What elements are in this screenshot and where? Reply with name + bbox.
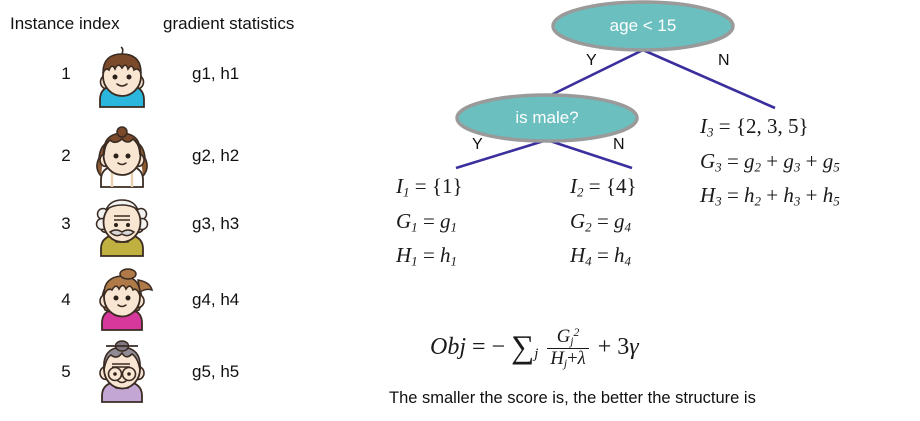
leaf-2-G-equals: = bbox=[597, 209, 609, 233]
leaf-2-hessian-sum: H4 = h4 bbox=[570, 241, 637, 276]
summation-icon: ∑ bbox=[511, 330, 534, 366]
table-row-stats-3: g3, h3 bbox=[192, 214, 239, 234]
denominator-symbol: H bbox=[550, 348, 564, 369]
leaf-3-G-subscript: 3 bbox=[715, 159, 722, 174]
leaf-1-H-equals: = bbox=[423, 243, 435, 267]
gamma-coefficient: 3 bbox=[617, 334, 629, 360]
leaf-3-G-term-3-subscript: 5 bbox=[833, 159, 840, 174]
leaf-3-hessian-sum: H3 = h2 + h3 + h5 bbox=[700, 181, 840, 216]
leaf-3-G-plus-2: + bbox=[806, 149, 818, 173]
leaf-2-gradient-sum: G2 = g4 bbox=[570, 207, 637, 242]
objective-name: Obj bbox=[430, 334, 466, 360]
leaf-1-G-symbol: G bbox=[396, 209, 411, 233]
objective-plus: + bbox=[598, 334, 612, 360]
leaf-1-hessian-sum: H1 = h1 bbox=[396, 241, 463, 276]
leaf-2-I-equals: = bbox=[589, 174, 601, 198]
edge-label-child-no: N bbox=[613, 136, 625, 154]
leaf-1-H-rhs-subscript: 1 bbox=[451, 254, 458, 269]
objective-denominator: Hj+λ bbox=[547, 348, 588, 370]
leaf-3-I-value: {2, 3, 5} bbox=[736, 114, 809, 138]
leaf-1-G-rhs-symbol: g bbox=[440, 209, 451, 233]
edge-label-root-no: N bbox=[718, 52, 730, 70]
leaf-2-I-symbol: I bbox=[570, 174, 577, 198]
leaf-1-I-value: {1} bbox=[432, 174, 463, 198]
leaf-1-H-subscript: 1 bbox=[411, 254, 418, 269]
leaf-1-G-equals: = bbox=[423, 209, 435, 233]
grandmother-avatar bbox=[88, 338, 156, 406]
leaf-2-H-equals: = bbox=[597, 243, 609, 267]
objective-numerator: Gj2 bbox=[547, 326, 588, 348]
boy-avatar bbox=[88, 45, 156, 113]
edge-child-yes bbox=[456, 140, 547, 168]
numerator-symbol: G bbox=[557, 326, 571, 347]
leaf-3-H-subscript: 3 bbox=[715, 194, 722, 209]
tree-node-root-label: age < 15 bbox=[553, 16, 733, 36]
leaf-2-G-subscript: 2 bbox=[585, 219, 592, 234]
edge-root-no bbox=[643, 50, 775, 108]
table-row-index-3: 3 bbox=[52, 214, 80, 234]
numerator-superscript: 2 bbox=[574, 326, 580, 339]
leaf-1-H-symbol: H bbox=[396, 243, 411, 267]
leaf-3-I-equals: = bbox=[719, 114, 731, 138]
leaf-2-statistics: I2 = {4} G2 = g4 H4 = h4 bbox=[570, 172, 637, 276]
xgboost-tree-structure-figure: Instance index gradient statistics 1 g1,… bbox=[0, 0, 920, 421]
denominator-plus: + bbox=[567, 348, 578, 369]
column-header-instance-index: Instance index bbox=[10, 14, 120, 34]
leaf-2-G-rhs-subscript: 4 bbox=[625, 219, 632, 234]
edge-label-root-yes: Y bbox=[586, 52, 597, 70]
leaf-3-instances: I3 = {2, 3, 5} bbox=[700, 112, 840, 147]
table-row-index-5: 5 bbox=[52, 362, 80, 382]
objective-minus-sign: − bbox=[492, 334, 506, 360]
summation-index: j bbox=[534, 346, 538, 362]
leaf-1-I-subscript: 1 bbox=[403, 185, 410, 200]
leaf-3-gradient-sum: G3 = g2 + g3 + g5 bbox=[700, 147, 840, 182]
leaf-3-I-subscript: 3 bbox=[707, 125, 714, 140]
leaf-2-G-rhs-symbol: g bbox=[614, 209, 625, 233]
column-header-gradient-statistics: gradient statistics bbox=[163, 14, 294, 34]
leaf-3-H-plus-2: + bbox=[806, 183, 818, 207]
leaf-2-H-symbol: H bbox=[570, 243, 585, 267]
leaf-3-G-equals: = bbox=[727, 149, 739, 173]
table-row-index-1: 1 bbox=[52, 64, 80, 84]
objective-fraction: Gj2 Hj+λ bbox=[547, 326, 588, 370]
objective-equals: = bbox=[472, 334, 486, 360]
leaf-3-H-term-2-subscript: 3 bbox=[794, 194, 801, 209]
leaf-3-G-term-3-symbol: g bbox=[823, 149, 834, 173]
table-row-stats-4: g4, h4 bbox=[192, 290, 239, 310]
leaf-2-H-subscript: 4 bbox=[585, 254, 592, 269]
leaf-3-G-term-2-symbol: g bbox=[783, 149, 794, 173]
leaf-3-I-symbol: I bbox=[700, 114, 707, 138]
figure-caption: The smaller the score is, the better the… bbox=[389, 389, 756, 408]
leaf-1-statistics: I1 = {1} G1 = g1 H1 = h1 bbox=[396, 172, 463, 276]
grandfather-avatar bbox=[88, 192, 156, 260]
leaf-2-G-symbol: G bbox=[570, 209, 585, 233]
lambda-symbol: λ bbox=[578, 348, 586, 369]
leaf-2-instances: I2 = {4} bbox=[570, 172, 637, 207]
leaf-2-H-rhs-symbol: h bbox=[614, 243, 625, 267]
table-row-stats-5: g5, h5 bbox=[192, 362, 239, 382]
tree-node-is-male-label: is male? bbox=[457, 108, 637, 128]
leaf-2-I-subscript: 2 bbox=[577, 185, 584, 200]
leaf-3-H-term-3-symbol: h bbox=[823, 183, 834, 207]
leaf-2-I-value: {4} bbox=[606, 174, 637, 198]
woman-avatar bbox=[88, 266, 156, 334]
leaf-1-I-symbol: I bbox=[396, 174, 403, 198]
leaf-1-instances: I1 = {1} bbox=[396, 172, 463, 207]
edge-label-child-yes: Y bbox=[472, 136, 483, 154]
table-row-stats-1: g1, h1 bbox=[192, 64, 239, 84]
leaf-1-gradient-sum: G1 = g1 bbox=[396, 207, 463, 242]
table-row-stats-2: g2, h2 bbox=[192, 146, 239, 166]
table-row-index-2: 2 bbox=[52, 146, 80, 166]
leaf-3-H-term-1-symbol: h bbox=[744, 183, 755, 207]
leaf-1-H-rhs-symbol: h bbox=[440, 243, 451, 267]
leaf-3-H-term-1-subscript: 2 bbox=[755, 194, 762, 209]
leaf-1-I-equals: = bbox=[415, 174, 427, 198]
leaf-1-G-rhs-subscript: 1 bbox=[451, 219, 458, 234]
girl-avatar bbox=[88, 124, 156, 192]
leaf-2-H-rhs-subscript: 4 bbox=[625, 254, 632, 269]
leaf-3-H-plus-1: + bbox=[766, 183, 778, 207]
objective-function-formula: Obj = − ∑j Gj2 Hj+λ + 3γ bbox=[430, 326, 639, 370]
leaf-3-G-term-2-subscript: 3 bbox=[794, 159, 801, 174]
leaf-1-G-subscript: 1 bbox=[411, 219, 418, 234]
table-row-index-4: 4 bbox=[52, 290, 80, 310]
gamma-symbol: γ bbox=[629, 334, 638, 360]
leaf-3-statistics: I3 = {2, 3, 5} G3 = g2 + g3 + g5 H3 = h2… bbox=[700, 112, 840, 216]
leaf-3-G-symbol: G bbox=[700, 149, 715, 173]
leaf-3-H-term-3-subscript: 5 bbox=[833, 194, 840, 209]
leaf-3-H-symbol: H bbox=[700, 183, 715, 207]
leaf-3-H-equals: = bbox=[727, 183, 739, 207]
leaf-3-G-term-1-subscript: 2 bbox=[755, 159, 762, 174]
leaf-3-G-term-1-symbol: g bbox=[744, 149, 755, 173]
leaf-3-G-plus-1: + bbox=[766, 149, 778, 173]
leaf-3-H-term-2-symbol: h bbox=[783, 183, 794, 207]
